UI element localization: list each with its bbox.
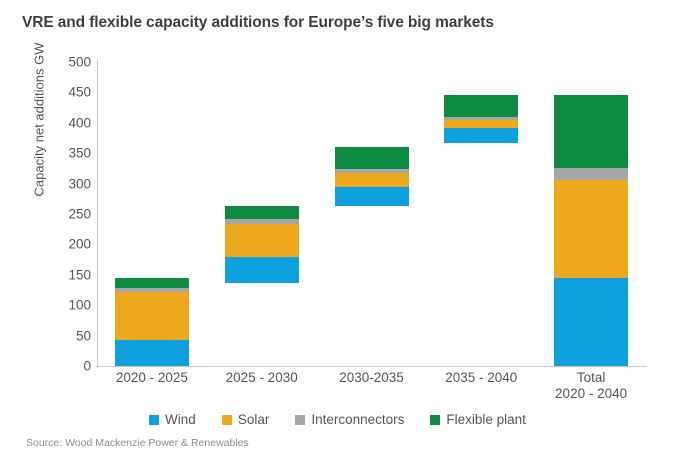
bar-group[interactable] xyxy=(554,62,628,366)
bar-group[interactable] xyxy=(115,62,189,366)
bar-segment-flexible-plant[interactable] xyxy=(335,147,409,169)
x-tick-label-line: Total xyxy=(536,370,646,386)
legend-item-solar[interactable]: Solar xyxy=(222,412,270,427)
x-axis-line xyxy=(96,366,647,367)
plot-area xyxy=(97,62,646,366)
bar-segment-wind[interactable] xyxy=(335,187,409,206)
x-axis-tick-labels: 2020 - 20252025 - 20302030-20352035 - 20… xyxy=(97,370,646,414)
y-tick-label: 150 xyxy=(39,267,91,282)
bar-stack[interactable] xyxy=(335,147,409,205)
y-tick-label: 350 xyxy=(39,146,91,161)
x-tick-label: 2025 - 2030 xyxy=(207,370,317,386)
legend-swatch-icon xyxy=(222,415,232,425)
y-tick-label: 200 xyxy=(39,237,91,252)
x-tick-label-line: 2020 - 2025 xyxy=(97,370,207,386)
bar-segment-solar[interactable] xyxy=(115,292,189,340)
y-tick-label: 300 xyxy=(39,176,91,191)
bar-segment-flexible-plant[interactable] xyxy=(225,206,299,219)
y-tick-label: 450 xyxy=(39,85,91,100)
y-tick-label: 250 xyxy=(39,207,91,222)
bar-stack[interactable] xyxy=(115,278,189,366)
bar-segment-solar[interactable] xyxy=(335,173,409,187)
bar-group[interactable] xyxy=(225,62,299,366)
bar-segment-interconnectors[interactable] xyxy=(444,117,518,120)
bar-segment-wind[interactable] xyxy=(115,340,189,366)
y-axis-tick-labels: 050100150200250300350400450500 xyxy=(33,62,91,366)
bar-group[interactable] xyxy=(444,62,518,366)
bar-group[interactable] xyxy=(335,62,409,366)
y-tick-label: 50 xyxy=(39,328,91,343)
legend-item-wind[interactable]: Wind xyxy=(149,412,196,427)
x-tick-label-line: 2035 - 2040 xyxy=(426,370,536,386)
y-tick-label: 100 xyxy=(39,298,91,313)
x-tick-label: 2035 - 2040 xyxy=(426,370,536,386)
chart-card: VRE and flexible capacity additions for … xyxy=(0,0,675,460)
source-note: Source: Wood Mackenzie Power & Renewable… xyxy=(26,437,249,449)
y-tick-label: 400 xyxy=(39,115,91,130)
bar-segment-solar[interactable] xyxy=(554,180,628,278)
bar-stack[interactable] xyxy=(225,206,299,283)
chart-title: VRE and flexible capacity additions for … xyxy=(22,14,494,32)
legend-label: Wind xyxy=(165,412,196,427)
x-tick-label-line: 2030-2035 xyxy=(317,370,427,386)
legend-label: Flexible plant xyxy=(446,412,526,427)
bar-segment-flexible-plant[interactable] xyxy=(115,278,189,288)
bar-segment-interconnectors[interactable] xyxy=(225,219,299,224)
x-tick-label-line: 2025 - 2030 xyxy=(207,370,317,386)
legend-swatch-icon xyxy=(430,415,440,425)
bar-segment-interconnectors[interactable] xyxy=(335,169,409,173)
legend-label: Interconnectors xyxy=(311,412,404,427)
x-tick-label: 2020 - 2025 xyxy=(97,370,207,386)
x-tick-label-line: 2020 - 2040 xyxy=(536,386,646,402)
x-tick-label: Total2020 - 2040 xyxy=(536,370,646,402)
bar-segment-solar[interactable] xyxy=(225,224,299,257)
x-tick-label: 2030-2035 xyxy=(317,370,427,386)
legend-item-flexible-plant[interactable]: Flexible plant xyxy=(430,412,526,427)
bar-segment-interconnectors[interactable] xyxy=(115,288,189,292)
bar-stack[interactable] xyxy=(554,95,628,366)
bar-segment-wind[interactable] xyxy=(225,257,299,284)
legend-swatch-icon xyxy=(149,415,159,425)
bar-segment-flexible-plant[interactable] xyxy=(444,95,518,117)
legend-label: Solar xyxy=(238,412,270,427)
bar-segment-wind[interactable] xyxy=(554,278,628,366)
bar-segment-wind[interactable] xyxy=(444,128,518,144)
y-tick-label: 500 xyxy=(39,55,91,70)
y-tick-label: 0 xyxy=(39,359,91,374)
chart-legend: WindSolarInterconnectorsFlexible plant xyxy=(0,412,675,427)
bar-stack[interactable] xyxy=(444,95,518,143)
bar-segment-interconnectors[interactable] xyxy=(554,168,628,180)
legend-swatch-icon xyxy=(295,415,305,425)
legend-item-interconnectors[interactable]: Interconnectors xyxy=(295,412,404,427)
bar-segment-solar[interactable] xyxy=(444,120,518,127)
bar-segment-flexible-plant[interactable] xyxy=(554,95,628,168)
